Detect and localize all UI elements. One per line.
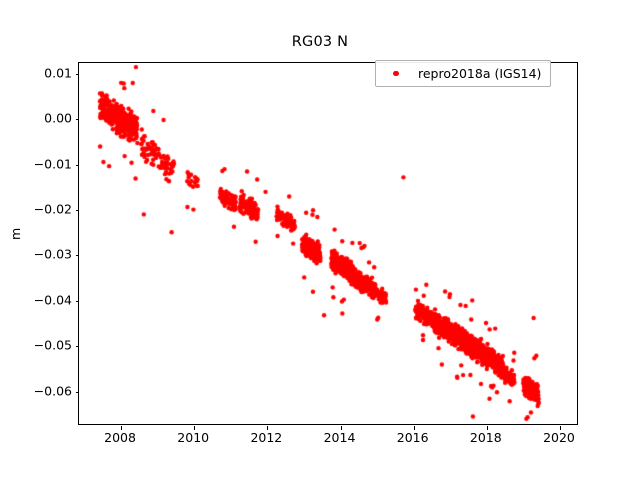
figure-canvas: RG03 N m 0.010.00−0.01−0.02−0.03−0.04−0.… — [0, 0, 640, 480]
x-tick-label: 2008 — [104, 430, 136, 445]
y-tick-label: −0.03 — [34, 247, 72, 262]
legend-marker-icon — [383, 68, 409, 80]
y-tick-mark — [76, 346, 80, 347]
plot-axes — [78, 62, 578, 425]
y-tick-label: −0.02 — [34, 202, 72, 217]
scatter-layer — [79, 63, 577, 424]
x-tick-mark — [414, 426, 415, 430]
x-tick-label: 2012 — [250, 430, 282, 445]
x-tick-label: 2016 — [397, 430, 429, 445]
x-tick-label: 2020 — [543, 430, 575, 445]
y-axis-label: m — [8, 228, 23, 240]
y-tick-label: 0.00 — [44, 111, 72, 126]
legend-entry-label: repro2018a (IGS14) — [418, 66, 541, 81]
legend-box: repro2018a (IGS14) — [375, 60, 551, 87]
x-tick-label: 2018 — [470, 430, 502, 445]
page-title: RG03 N — [0, 34, 640, 50]
y-tick-label: 0.01 — [44, 65, 72, 80]
x-tick-label: 2014 — [324, 430, 356, 445]
y-tick-mark — [76, 119, 80, 120]
x-tick-mark — [194, 426, 195, 430]
y-tick-label: −0.04 — [34, 292, 72, 307]
y-tick-mark — [76, 255, 80, 256]
y-tick-mark — [76, 74, 80, 75]
y-tick-label: −0.01 — [34, 156, 72, 171]
y-tick-label: −0.06 — [34, 383, 72, 398]
x-tick-mark — [341, 426, 342, 430]
x-tick-mark — [560, 426, 561, 430]
x-tick-mark — [487, 426, 488, 430]
y-tick-mark — [76, 301, 80, 302]
x-tick-mark — [267, 426, 268, 430]
scatter-series-repro2018a — [79, 63, 577, 424]
x-tick-label: 2010 — [177, 430, 209, 445]
y-tick-mark — [76, 165, 80, 166]
y-tick-label: −0.05 — [34, 338, 72, 353]
y-tick-mark — [76, 210, 80, 211]
x-tick-mark — [121, 426, 122, 430]
y-tick-mark — [76, 392, 80, 393]
